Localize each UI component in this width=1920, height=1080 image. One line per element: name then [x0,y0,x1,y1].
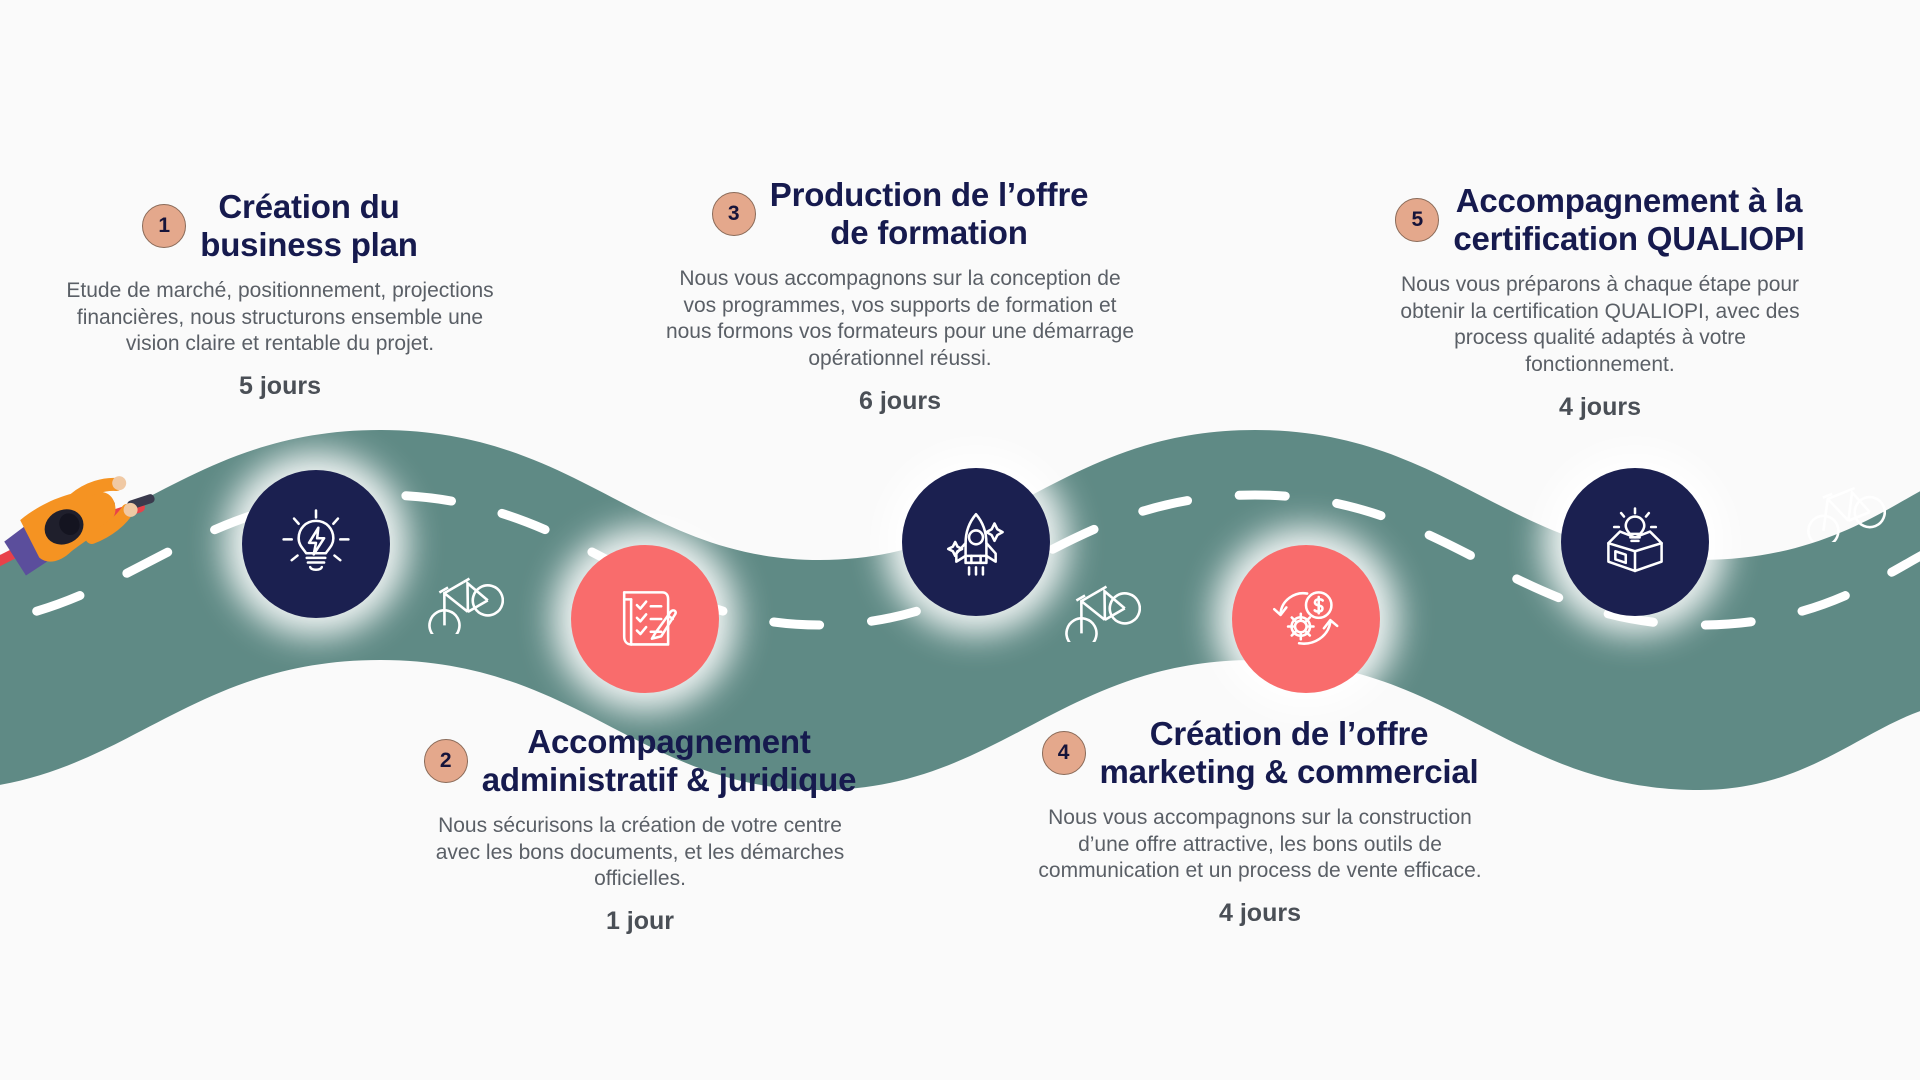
step-title-line1: Accompagnement à la [1456,182,1802,219]
gear-dollar-cycle-icon [1269,582,1343,656]
step-badge-1: 1 [142,204,186,248]
step-title-5: Accompagnement à la certification QUALIO… [1453,182,1804,258]
step-header-1: 1 Création du business plan [55,188,505,264]
step-duration-3: 6 jours [665,387,1135,416]
step-description-1: Etude de marché, positionnement, project… [55,278,505,358]
step-title-line2: certification QUALIOPI [1453,220,1804,258]
step-header-2: 2 Accompagnement administratif & juridiq… [415,723,865,799]
step-title-1: Création du business plan [200,188,417,264]
step-description-4: Nous vous accompagnons sur la constructi… [1020,805,1500,885]
step-block-1: 1 Création du business plan Etude de mar… [55,188,505,401]
rocket-icon [939,505,1013,579]
step-badge-2: 2 [424,739,468,783]
step-badge-4: 4 [1042,731,1086,775]
step-block-2: 2 Accompagnement administratif & juridiq… [415,723,865,936]
step-title-line2: business plan [200,226,417,264]
bicycle-outline-icon [1055,578,1141,642]
step-title-line2: marketing & commercial [1100,753,1479,791]
step-icon-circle-5[interactable] [1561,468,1709,616]
step-icon-circle-4[interactable] [1232,545,1380,693]
lightbulb-bolt-icon [279,507,353,581]
step-title-line2: de formation [770,214,1088,252]
step-header-5: 5 Accompagnement à la certification QUAL… [1380,182,1820,258]
step-icon-circle-2[interactable] [571,545,719,693]
step-header-4: 4 Création de l’offre marketing & commer… [1020,715,1500,791]
step-block-5: 5 Accompagnement à la certification QUAL… [1380,182,1820,422]
step-description-2: Nous sécurisons la création de votre cen… [415,813,865,893]
step-title-line2: administratif & juridique [482,761,857,799]
step-title-3: Production de l’offre de formation [770,176,1088,252]
step-duration-5: 4 jours [1380,393,1820,422]
step-description-5: Nous vous préparons à chaque étape pour … [1380,272,1820,379]
step-title-4: Création de l’offre marketing & commerci… [1100,715,1479,791]
checklist-pencil-icon [608,582,682,656]
infographic-canvas: 1 Création du business plan Etude de mar… [0,0,1920,1080]
step-badge-3: 3 [712,192,756,236]
step-title-2: Accompagnement administratif & juridique [482,723,857,799]
step-badge-5: 5 [1395,198,1439,242]
step-title-line1: Création du [218,188,399,225]
step-icon-circle-3[interactable] [902,468,1050,616]
step-block-3: 3 Production de l’offre de formation Nou… [665,176,1135,416]
step-duration-2: 1 jour [415,907,865,936]
step-title-line1: Production de l’offre [770,176,1088,213]
bicycle-outline-icon [1800,478,1886,542]
step-description-3: Nous vous accompagnons sur la conception… [665,266,1135,373]
step-duration-4: 4 jours [1020,899,1500,928]
step-title-line1: Accompagnement [527,723,810,760]
step-duration-1: 5 jours [55,372,505,401]
cyclist-top-view-icon [0,455,184,605]
step-title-line1: Création de l’offre [1150,715,1429,752]
step-icon-circle-1[interactable] [242,470,390,618]
bicycle-outline-icon [418,570,504,634]
box-lightbulb-icon [1598,505,1672,579]
step-header-3: 3 Production de l’offre de formation [665,176,1135,252]
step-block-4: 4 Création de l’offre marketing & commer… [1020,715,1500,928]
